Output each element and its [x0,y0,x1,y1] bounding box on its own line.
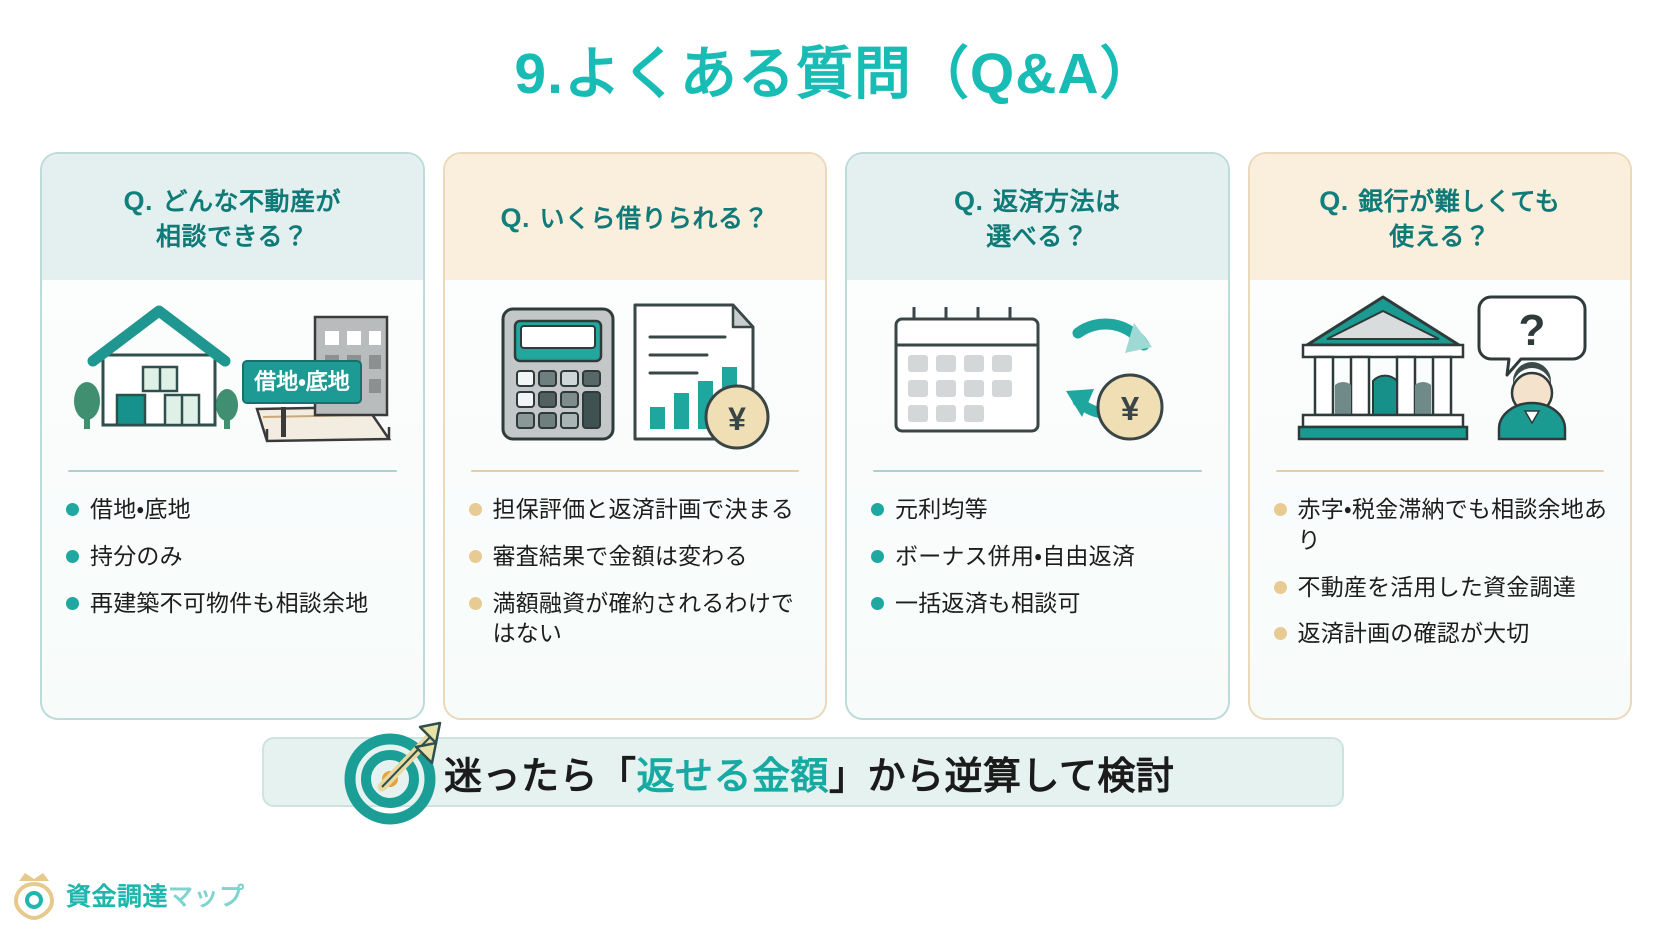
q-label: Q. [124,186,154,216]
bullet-dot-icon [871,503,884,516]
question-line-2: 使える？ [1389,223,1490,251]
location-pin-crown-icon [10,864,58,925]
qa-card-1[interactable]: Q. どんな不動産が 相談できる？ [40,152,425,720]
q-label: Q. [954,186,984,216]
qa-card-2-question: Q. いくら借りられる？ [501,200,769,237]
list-item: ボーナス併用・自由返済 [871,541,1206,572]
bullet-text: 持分のみ [90,541,183,572]
bullet-text: 再建築不可物件も相談余地 [90,588,368,619]
bullet-dot-icon [469,597,482,610]
brand-name: 資金調達マップ [66,877,245,913]
banner-text-after: 」から逆算して検討 [829,756,1174,798]
list-item: 担保評価と返済計画で決まる [469,494,804,525]
target-arrow-icon [336,717,452,833]
qa-card-4-question: Q. 銀行が難しくても 使える？ [1319,183,1560,255]
qa-card-3-bullets: 元利均等 ボーナス併用・自由返済 一括返済も相談可 [847,472,1228,636]
list-item: 再建築不可物件も相談余地 [66,588,401,619]
qa-card-3-question: Q. 返済方法は 選べる？ [954,183,1120,255]
bullet-text: 満額融資が確約されるわけではない [493,588,804,650]
bullet-dot-icon [66,503,79,516]
infographic-page: 9.よくある質問（Q&A） Q. どんな不動産が 相談できる？ [0,0,1672,941]
question-line-2: 相談できる？ [156,223,309,251]
qa-card-3[interactable]: Q. 返済方法は 選べる？ [845,152,1230,720]
brand-secondary: マップ [168,883,245,911]
bullet-dot-icon [469,503,482,516]
list-item: 借地・底地 [66,494,401,525]
bullet-dot-icon [469,550,482,563]
svg-text:¥: ¥ [1121,390,1140,427]
question-line-1: 銀行が難しくても [1358,188,1560,216]
qa-card-2-bullets: 担保評価と返済計画で決まる 審査結果で金額は変わる 満額融資が確約されるわけでは… [445,472,826,667]
banner-text-before: 迷ったら「 [444,756,637,798]
qa-card-3-header: Q. 返済方法は 選べる？ [847,154,1228,280]
qa-card-1-header: Q. どんな不動産が 相談できる？ [42,154,423,280]
bullet-text: ボーナス併用・自由返済 [895,541,1135,572]
bullet-dot-icon [1274,503,1287,516]
question-line-1: いくら借りられる？ [539,205,769,233]
svg-text:借地・底地: 借地・底地 [254,369,350,394]
bullet-dot-icon [871,550,884,563]
qa-card-grid: Q. どんな不動産が 相談できる？ [40,152,1632,720]
bullet-text: 返済計画の確認が大切 [1298,618,1530,649]
svg-text:¥: ¥ [728,401,746,437]
bullet-text: 担保評価と返済計画で決まる [493,494,795,525]
qa-card-1-question: Q. どんな不動産が 相談できる？ [124,183,341,255]
list-item: 一括返済も相談可 [871,588,1206,619]
qa-card-2[interactable]: Q. いくら借りられる？ [443,152,828,720]
banner-text-highlight: 返せる金額 [637,756,830,798]
question-line-2: 選べる？ [986,223,1088,251]
qa-card-4-bullets: 赤字・税金滞納でも相談余地あり 不動産を活用した資金調達 返済計画の確認が大切 [1250,472,1631,667]
question-line-1: 返済方法は [993,188,1121,216]
calculator-document-chart-yen-coin-icon: ¥ [445,280,826,462]
brand-logo: 資金調達マップ [10,864,245,925]
bullet-dot-icon [871,597,884,610]
house-building-leasehold-sign-icon: 借地・底地 [42,280,423,462]
bullet-text: 一括返済も相談可 [895,588,1081,619]
bullet-text: 赤字・税金滞納でも相談余地あり [1298,494,1609,556]
svg-text:?: ? [1518,306,1545,355]
brand-primary: 資金調達 [66,883,168,911]
bullet-dot-icon [1274,581,1287,594]
bullet-text: 借地・底地 [90,494,191,525]
list-item: 持分のみ [66,541,401,572]
bullet-text: 審査結果で金額は変わる [493,541,748,572]
qa-card-1-bullets: 借地・底地 持分のみ 再建築不可物件も相談余地 [42,472,423,636]
list-item: 赤字・税金滞納でも相談余地あり [1274,494,1609,556]
qa-card-4[interactable]: Q. 銀行が難しくても 使える？ [1248,152,1633,720]
question-line-1: どんな不動産が [162,188,341,216]
calendar-refresh-yen-coin-icon: ¥ [847,280,1228,462]
list-item: 元利均等 [871,494,1206,525]
summary-banner: 迷ったら「返せる金額」から逆算して検討 [262,737,1344,807]
bullet-text: 元利均等 [895,494,988,525]
bullet-dot-icon [1274,627,1287,640]
bullet-dot-icon [66,597,79,610]
qa-card-4-header: Q. 銀行が難しくても 使える？ [1250,154,1631,280]
list-item: 審査結果で金額は変わる [469,541,804,572]
bullet-dot-icon [66,550,79,563]
list-item: 満額融資が確約されるわけではない [469,588,804,650]
bank-person-question-icon: ? [1250,280,1631,462]
page-title: 9.よくある質問（Q&A） [0,28,1672,110]
q-label: Q. [1319,186,1349,216]
bullet-text: 不動産を活用した資金調達 [1298,572,1576,603]
qa-card-2-header: Q. いくら借りられる？ [445,154,826,280]
list-item: 返済計画の確認が大切 [1274,618,1609,649]
q-label: Q. [501,203,531,233]
list-item: 不動産を活用した資金調達 [1274,572,1609,603]
banner-text: 迷ったら「返せる金額」から逆算して検討 [444,745,1174,800]
